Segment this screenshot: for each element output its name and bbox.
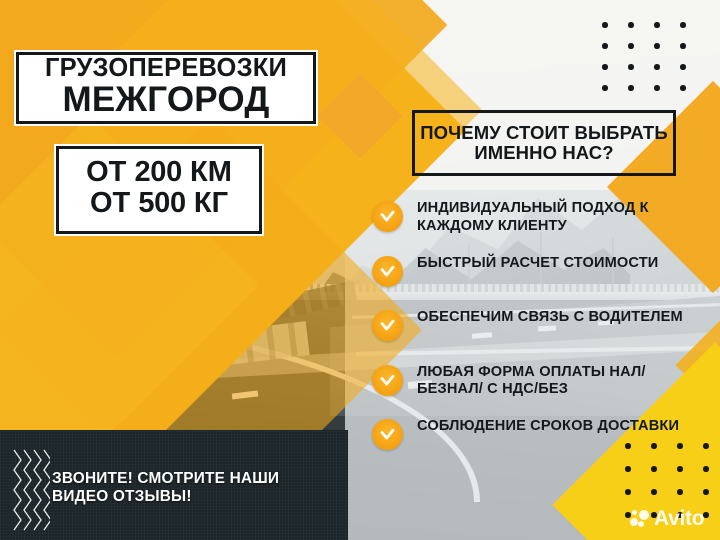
specs-line-weight: ОТ 500 КГ <box>90 188 228 219</box>
check-circle-icon <box>372 419 403 450</box>
dot <box>680 22 686 28</box>
dot <box>680 64 686 70</box>
specs-distance-value: 200 <box>134 156 182 188</box>
check-circle-icon <box>372 310 403 341</box>
dot <box>651 489 657 495</box>
dot <box>628 64 634 70</box>
why-choose-us-heading: ПОЧЕМУ СТОИТ ВЫБРАТЬ ИМЕННО НАС? <box>415 123 673 162</box>
advertisement-banner: ГРУЗОПЕРЕВОЗКИ МЕЖГОРОД ОТ 200 КМ ОТ 500… <box>0 0 720 540</box>
dot <box>680 43 686 49</box>
specs-weight-value: 500 <box>138 187 186 219</box>
avito-wordmark: Avito <box>654 508 704 529</box>
dot <box>654 22 660 28</box>
dot-grid-top-icon <box>602 22 706 106</box>
specs-line-distance: ОТ 200 КМ <box>86 157 232 188</box>
headline-line-2: МЕЖГОРОД <box>63 82 270 117</box>
dot <box>625 489 631 495</box>
dot <box>703 489 709 495</box>
headline-line-1: ГРУЗОПЕРЕВОЗКИ <box>45 56 287 82</box>
benefit-text: СОБЛЮДЕНИЕ СРОКОВ ДОСТАВКИ <box>417 414 679 436</box>
specs-weight-prefix: ОТ <box>90 187 138 219</box>
dot <box>602 22 608 28</box>
specs-distance-prefix: ОТ <box>86 156 134 188</box>
avito-watermark: Avito <box>630 508 704 529</box>
why-choose-us-box: ПОЧЕМУ СТОИТ ВЫБРАТЬ ИМЕННО НАС? <box>412 110 676 176</box>
benefit-text: ЛЮБАЯ ФОРМА ОПЛАТЫ НАЛ/ БЕЗНАЛ/ С НДС/БЕ… <box>417 360 702 400</box>
dot <box>602 85 608 91</box>
benefit-text: БЫСТРЫЙ РАСЧЕТ СТОИМОСТИ <box>417 251 658 273</box>
dot <box>680 85 686 91</box>
dot <box>628 85 634 91</box>
dot <box>703 443 709 449</box>
call-to-action-text: ЗВОНИТЕ! СМОТРИТЕ НАШИ ВИДЕО ОТЗЫВЫ! <box>52 470 332 506</box>
check-circle-icon <box>372 201 403 232</box>
list-item: ОБЕСПЕЧИМ СВЯЗЬ С ВОДИТЕЛЕМ <box>372 305 702 349</box>
specs-box: ОТ 200 КМ ОТ 500 КГ <box>56 146 262 234</box>
check-circle-icon <box>372 365 403 396</box>
dot <box>654 85 660 91</box>
avito-logo-icon <box>630 509 650 529</box>
benefits-list: ИНДИВИДУАЛЬНЫЙ ПОДХОД К КАЖДОМУ КЛИЕНТУ … <box>372 196 702 469</box>
list-item: ИНДИВИДУАЛЬНЫЙ ПОДХОД К КАЖДОМУ КЛИЕНТУ <box>372 196 702 240</box>
list-item: СОБЛЮДЕНИЕ СРОКОВ ДОСТАВКИ <box>372 414 702 458</box>
dot <box>602 43 608 49</box>
dot <box>628 43 634 49</box>
headline-box: ГРУЗОПЕРЕВОЗКИ МЕЖГОРОД <box>16 52 316 124</box>
list-item: ЛЮБАЯ ФОРМА ОПЛАТЫ НАЛ/ БЕЗНАЛ/ С НДС/БЕ… <box>372 360 702 404</box>
zigzag-lines-icon <box>10 448 50 532</box>
dot <box>677 489 683 495</box>
dot <box>602 64 608 70</box>
dot <box>654 64 660 70</box>
dot <box>703 466 709 472</box>
dot <box>628 22 634 28</box>
benefit-text: ИНДИВИДУАЛЬНЫЙ ПОДХОД К КАЖДОМУ КЛИЕНТУ <box>417 196 702 236</box>
specs-weight-unit: КГ <box>186 187 228 219</box>
list-item: БЫСТРЫЙ РАСЧЕТ СТОИМОСТИ <box>372 251 702 295</box>
dot <box>654 43 660 49</box>
specs-distance-unit: КМ <box>182 156 232 188</box>
benefit-text: ОБЕСПЕЧИМ СВЯЗЬ С ВОДИТЕЛЕМ <box>417 305 683 327</box>
check-circle-icon <box>372 256 403 287</box>
